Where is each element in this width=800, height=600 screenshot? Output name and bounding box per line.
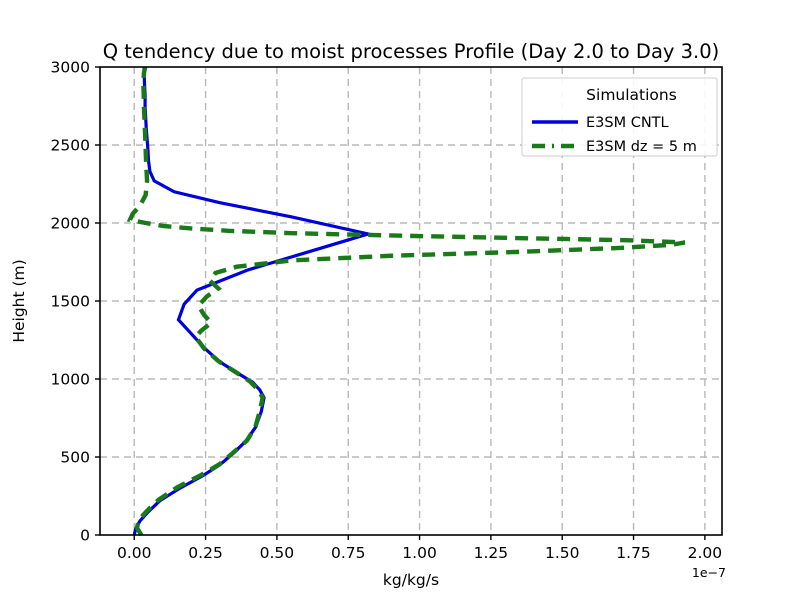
y-tick-label: 2500 [51,137,90,155]
x-tick-label: 0.00 [117,544,152,562]
legend-title: Simulations [586,86,677,104]
x-axis-offset-exponent: 1e−7 [692,565,726,580]
legend-label-1: E3SM dz = 5 m [586,139,697,155]
y-tick-label: 1000 [51,371,90,389]
chart-title: Q tendency due to moist processes Profil… [103,40,720,63]
x-tick-label: 1.75 [616,544,651,562]
y-tick-label: 2000 [51,215,90,233]
y-tick-label: 0 [80,527,90,545]
x-tick-label: 1.00 [402,544,437,562]
x-tick-label: 0.75 [331,544,366,562]
y-axis-label: Height (m) [10,259,28,342]
legend-label-0: E3SM CNTL [586,115,669,131]
y-tick-label: 3000 [51,59,90,77]
profile-plot: 0.000.250.500.751.001.251.501.752.000500… [0,0,800,600]
x-tick-label: 0.25 [188,544,223,562]
y-tick-label: 500 [60,449,90,467]
x-tick-label: 2.00 [688,544,723,562]
x-tick-label: 0.50 [260,544,295,562]
chart-legend[interactable]: SimulationsE3SM CNTLE3SM dz = 5 m [522,78,717,156]
x-tick-label: 1.25 [474,544,509,562]
figure-canvas: 0.000.250.500.751.001.251.501.752.000500… [0,0,800,600]
x-tick-label: 1.50 [545,544,580,562]
x-axis-label: kg/kg/s [383,571,439,589]
y-tick-label: 1500 [51,293,90,311]
